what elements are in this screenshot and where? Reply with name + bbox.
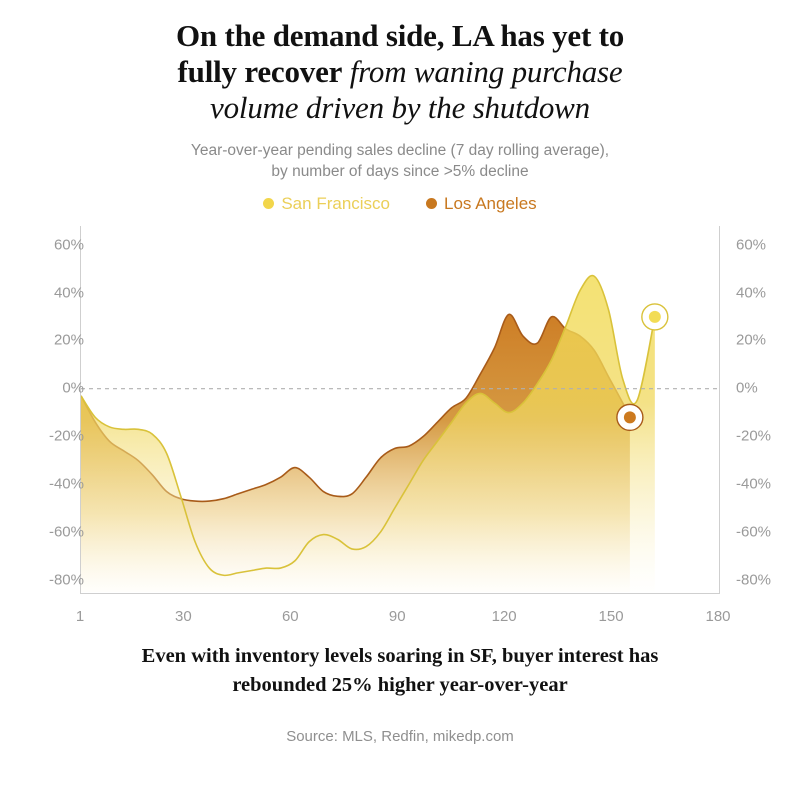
y-tick-right-neg40: -40%: [736, 475, 771, 492]
x-tick-60: 60: [282, 608, 299, 625]
y-tick-left-neg80: -80%: [49, 571, 84, 588]
legend-dot-san-francisco: [263, 198, 274, 209]
caption-line2: rebounded 25% higher year-over-year: [232, 674, 567, 696]
x-tick-180: 180: [705, 608, 730, 625]
y-tick-left-neg40: -40%: [49, 475, 84, 492]
plot-area: [80, 226, 720, 594]
legend-label-san-francisco: San Francisco: [281, 194, 390, 214]
subtitle-line1: Year-over-year pending sales decline (7 …: [191, 142, 609, 159]
y-tick-right-60: 60%: [736, 236, 766, 253]
legend-dot-los-angeles: [426, 198, 437, 209]
legend-item-los-angeles[interactable]: Los Angeles: [426, 194, 537, 214]
subtitle-line2: by number of days since >5% decline: [271, 163, 528, 180]
x-tick-1: 1: [76, 608, 84, 625]
y-tick-left-20: 20%: [54, 332, 84, 349]
y-tick-right-neg20: -20%: [736, 428, 771, 445]
chart-source: Source: MLS, Redfin, mikedp.com: [0, 728, 800, 745]
y-tick-left-0: 0%: [62, 380, 84, 397]
y-tick-left-60: 60%: [54, 236, 84, 253]
y-tick-right-0: 0%: [736, 380, 758, 397]
title-line1: On the demand side, LA has yet to: [176, 18, 624, 53]
x-tick-30: 30: [175, 608, 192, 625]
y-tick-right-40: 40%: [736, 284, 766, 301]
y-tick-left-neg60: -60%: [49, 523, 84, 540]
y-tick-right-20: 20%: [736, 332, 766, 349]
y-tick-left-40: 40%: [54, 284, 84, 301]
x-tick-90: 90: [389, 608, 406, 625]
title-line3-italic: volume driven by the shutdown: [210, 90, 590, 125]
chart-caption: Even with inventory levels soaring in SF…: [0, 636, 800, 700]
caption-line1: Even with inventory levels soaring in SF…: [142, 645, 659, 667]
chart-legend: San Francisco Los Angeles: [0, 194, 800, 214]
x-tick-120: 120: [492, 608, 517, 625]
title-line2-italic: from waning purchase: [342, 54, 622, 89]
legend-item-san-francisco[interactable]: San Francisco: [263, 194, 390, 214]
end-marker-los-angeles[interactable]: [617, 404, 643, 430]
end-marker-san-francisco[interactable]: [642, 304, 668, 330]
y-tick-left-neg20: -20%: [49, 428, 84, 445]
legend-label-los-angeles: Los Angeles: [444, 194, 537, 214]
area-chart-svg: [81, 226, 719, 592]
y-tick-right-neg80: -80%: [736, 571, 771, 588]
x-tick-150: 150: [599, 608, 624, 625]
y-tick-right-neg60: -60%: [736, 523, 771, 540]
chart-subtitle: Year-over-year pending sales decline (7 …: [0, 126, 800, 183]
chart-container: -80%-60%-40%-20%0%20%40%60% -80%-60%-40%…: [0, 216, 800, 636]
title-line2-bold: fully recover: [178, 54, 343, 89]
page-title: On the demand side, LA has yet to fully …: [0, 0, 800, 126]
